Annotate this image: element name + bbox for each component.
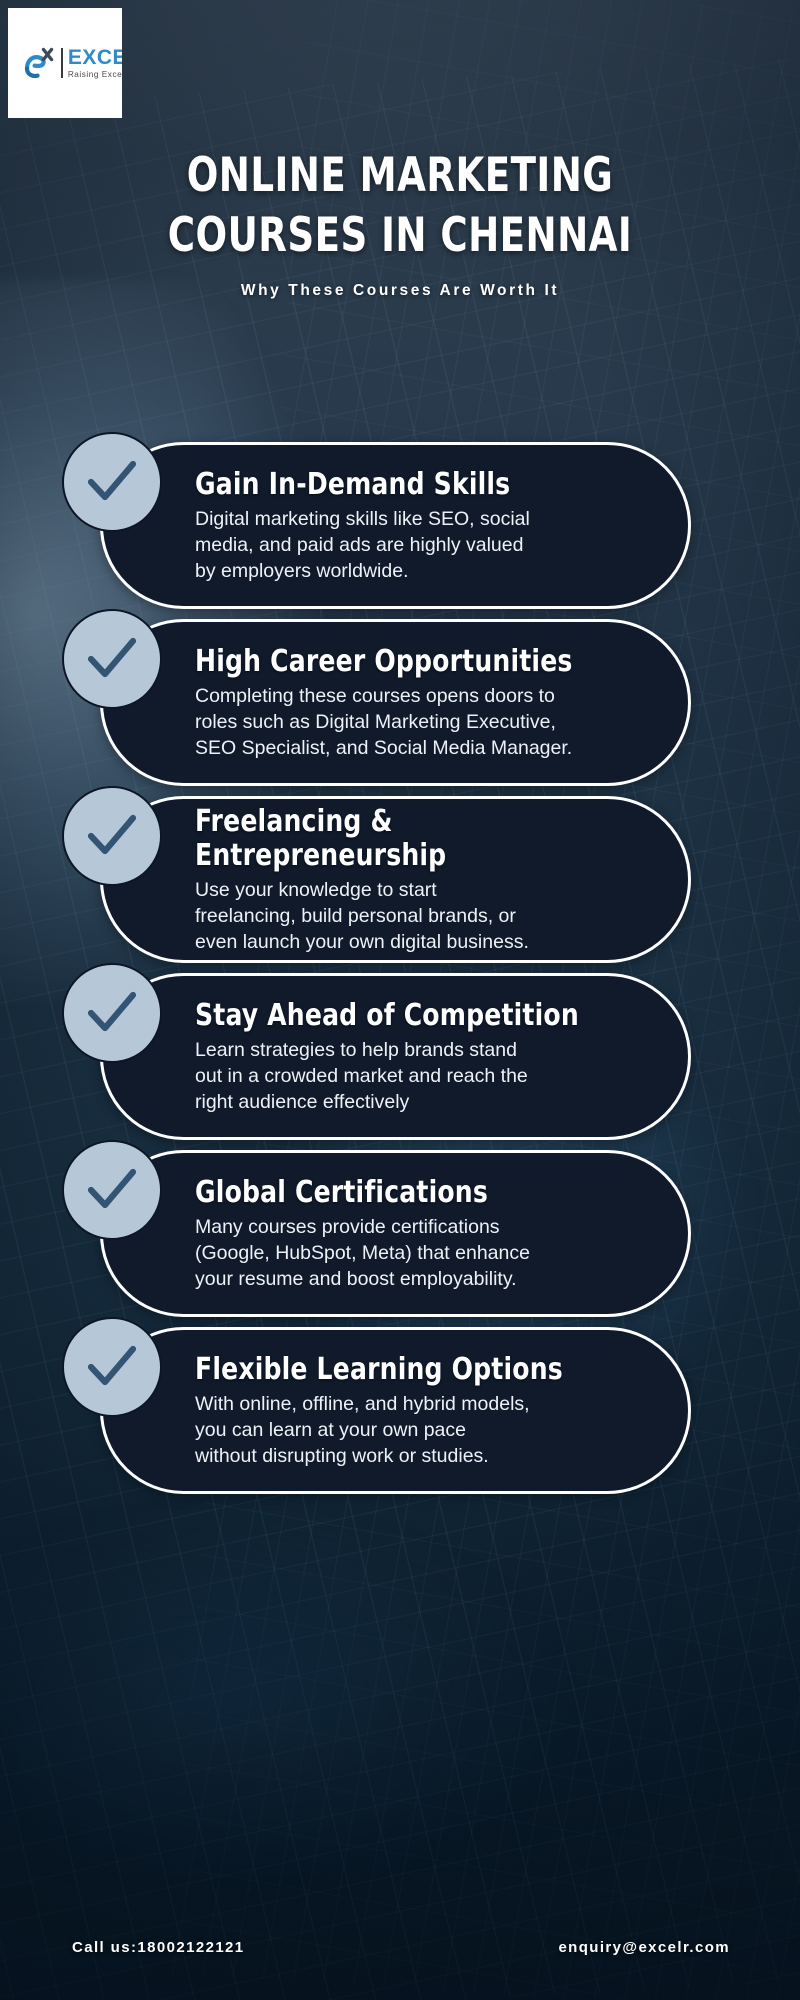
footer-email[interactable]: enquiry@excelr.com [558,1939,730,1956]
list-item: Stay Ahead of Competition Learn strategi… [0,963,800,1140]
check-icon [62,609,162,709]
list-item: Global Certifications Many courses provi… [0,1140,800,1317]
brand-logo: EXCELR Raising Excellence [8,8,122,118]
card-title: Global Certifications [195,1176,631,1210]
page-footer: Call us:18002122121 enquiry@excelr.com [0,1939,800,1956]
benefit-card: Stay Ahead of Competition Learn strategi… [100,973,691,1140]
check-icon [62,786,162,886]
footer-phone[interactable]: Call us:18002122121 [72,1939,245,1956]
logo-divider [61,48,63,78]
list-item: Flexible Learning Options With online, o… [0,1317,800,1494]
card-body: Digital marketing skills like SEO, socia… [195,506,664,584]
benefit-card: Gain In-Demand Skills Digital marketing … [100,442,691,609]
excelr-e-x-logo-icon [23,47,59,79]
list-item: Freelancing & Entrepreneurship Use your … [0,786,800,963]
benefit-card: Global Certifications Many courses provi… [100,1150,691,1317]
page-title-line-2: COURSES IN CHENNAI [48,206,752,266]
page-subtitle: Why These Courses Are Worth It [0,282,800,300]
benefit-card-list: Gain In-Demand Skills Digital marketing … [0,432,800,1494]
card-title: Freelancing & Entrepreneurship [195,805,631,873]
check-icon [62,1140,162,1240]
benefit-card: High Career Opportunities Completing the… [100,619,691,786]
card-title: Flexible Learning Options [195,1353,631,1387]
list-item: High Career Opportunities Completing the… [0,609,800,786]
benefit-card: Flexible Learning Options With online, o… [100,1327,691,1494]
card-body: Completing these courses opens doors to … [195,683,664,761]
card-body: With online, offline, and hybrid models,… [195,1391,664,1469]
logo-tagline: Raising Excellence [68,71,122,79]
list-item: Gain In-Demand Skills Digital marketing … [0,432,800,609]
page-header: ONLINE MARKETING COURSES IN CHENNAI Why … [0,146,800,300]
card-title: High Career Opportunities [195,645,631,679]
card-title: Gain In-Demand Skills [195,468,631,502]
card-body: Learn strategies to help brands stand ou… [195,1037,664,1115]
check-icon [62,963,162,1063]
check-icon [62,432,162,532]
card-body: Many courses provide certifications (Goo… [195,1214,664,1292]
card-body: Use your knowledge to start freelancing,… [195,877,664,955]
page-title-line-1: ONLINE MARKETING [48,146,752,206]
benefit-card: Freelancing & Entrepreneurship Use your … [100,796,691,963]
logo-wordmark: EXCELR [68,47,122,68]
card-title: Stay Ahead of Competition [195,999,631,1033]
check-icon [62,1317,162,1417]
